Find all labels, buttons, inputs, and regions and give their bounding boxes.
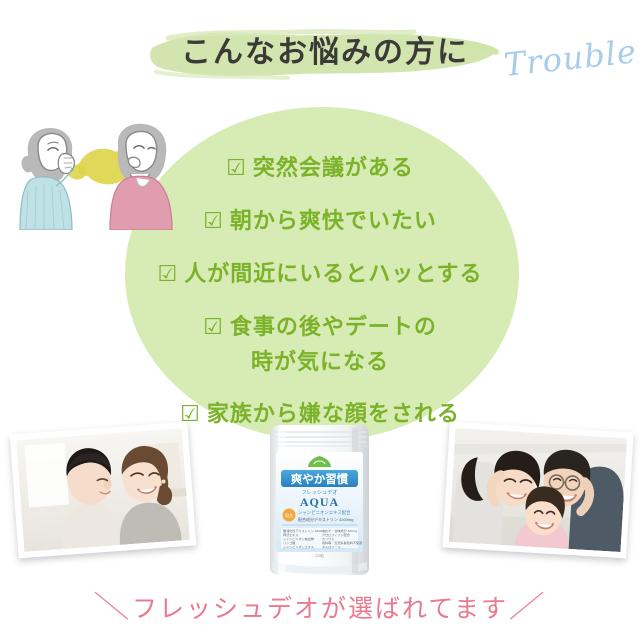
photo-couple (10, 422, 197, 559)
list-item-label: 人が間近にいるとハッとする (184, 261, 482, 286)
page-title: こんなお悩みの方に (150, 27, 500, 79)
slash-right-icon: ／ (507, 582, 548, 626)
list-item-label: 朝から爽快でいたい (230, 208, 437, 233)
promo-page: こんなお悩みの方に Trouble (0, 0, 640, 640)
list-item: ☑朝から爽快でいたい (60, 203, 580, 235)
list-item-continuation: 時が気になる (60, 344, 580, 376)
bottom-copy-text: フレッシュデオが選ばれてます (132, 594, 508, 623)
svg-text:AQUA: AQUA (300, 495, 339, 509)
checkbox-icon: ☑ (226, 155, 247, 181)
list-item-label: 時が気になる (251, 349, 389, 374)
photo-family (442, 422, 633, 559)
list-item: ☑食事の後やデートの (60, 309, 580, 341)
trouble-script-label: Trouble (502, 33, 635, 102)
svg-text:シャンピニオンエキス配合: シャンピニオンエキス配合 (298, 509, 351, 516)
checkbox-icon: ☑ (203, 208, 224, 234)
header-band: こんなお悩みの方に Trouble (0, 0, 640, 108)
svg-text:配合: 配合 (285, 512, 293, 518)
product-pouch: 爽やか習慣 フレッシュデオ AQUA 配合 シャンピニオンエキス配合 配合成分デ… (262, 422, 377, 577)
photo-family-image (449, 428, 627, 552)
svg-text:120粒: 120粒 (315, 553, 325, 558)
svg-text:配合成分デキストリン 4200mg: 配合成分デキストリン 4200mg (298, 516, 353, 522)
svg-text:爽やか習慣: 爽やか習慣 (291, 472, 349, 486)
photo-couple-image (16, 428, 190, 552)
slash-left-icon: ＼ (91, 582, 132, 626)
bottom-catch-copy: ＼フレッシュデオが選ばれてます／ (0, 582, 640, 626)
checkbox-icon: ☑ (157, 261, 178, 287)
list-item-label: 食事の後やデートの (230, 314, 437, 339)
list-item-label: 突然会議がある (253, 155, 414, 180)
list-item: ☑突然会議がある (60, 150, 580, 182)
checkbox-icon: ☑ (203, 314, 224, 340)
svg-text:ネルロニール: ネルロニール (322, 544, 341, 549)
svg-text:シャンピニオンエキス: シャンピニオンエキス (283, 544, 314, 549)
list-item: ☑人が間近にいるとハッとする (60, 256, 580, 288)
trouble-checklist: ☑突然会議がある ☑朝から爽快でいたい ☑人が間近にいるとハッとする ☑食事の後… (60, 150, 580, 449)
